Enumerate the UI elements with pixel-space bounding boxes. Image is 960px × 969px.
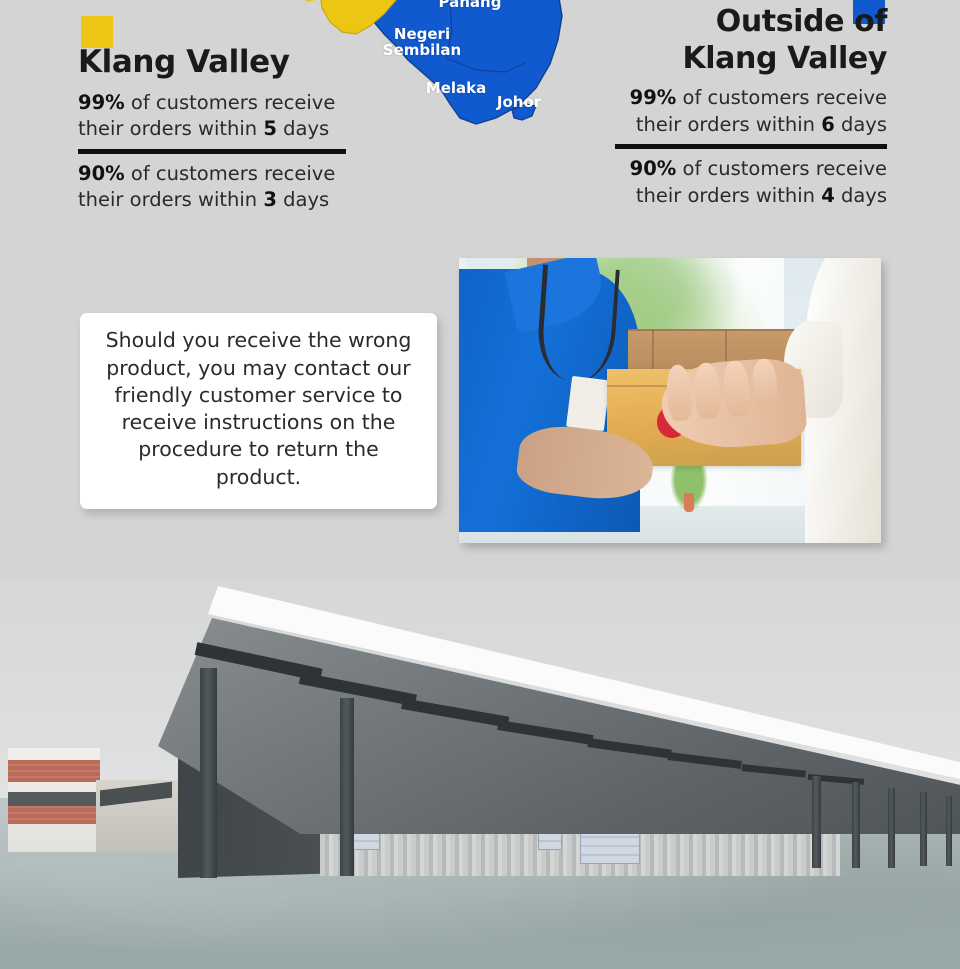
stat-percent: 90%: [78, 162, 125, 185]
finger: [664, 364, 692, 422]
finger: [693, 362, 721, 420]
brick-band: [8, 760, 100, 782]
support-column: [946, 796, 952, 866]
stat-days: 4: [821, 184, 835, 207]
support-column: [888, 788, 895, 868]
potted-plant: [670, 466, 708, 512]
stat-text-after: days: [277, 188, 329, 211]
stat-percent: 99%: [78, 91, 125, 114]
support-column: [340, 698, 354, 876]
support-column: [920, 792, 927, 866]
delivery-times-band: Klang Valley 99% of customers receive th…: [0, 0, 960, 240]
stat-divider: [615, 144, 887, 149]
region-title-outside-klang-valley: Outside of Klang Valley: [585, 4, 887, 77]
finger: [722, 360, 750, 418]
stat-90-klang-valley: 90% of customers receive their orders wi…: [78, 161, 378, 214]
office-building: [8, 748, 100, 852]
stat-text-after: days: [835, 113, 887, 136]
stat-days: 3: [263, 188, 277, 211]
brick-band: [8, 806, 100, 824]
stat-days: 5: [263, 117, 277, 140]
support-column: [812, 776, 821, 868]
return-policy-text: Should you receive the wrong product, yo…: [102, 327, 415, 491]
peninsular-malaysia-map: Pahang Negeri Sembilan Melaka Johor: [300, 0, 600, 167]
warehouse-render: [0, 580, 960, 969]
stat-percent: 90%: [630, 157, 677, 180]
region-outside-klang-valley: Outside of Klang Valley 99% of customers…: [585, 4, 887, 209]
support-column: [852, 782, 860, 868]
stat-99-outside: 99% of customers receive their orders wi…: [585, 85, 887, 138]
stat-90-outside: 90% of customers receive their orders wi…: [585, 156, 887, 209]
finger: [750, 358, 778, 407]
return-policy-card: Should you receive the wrong product, yo…: [80, 313, 437, 509]
window-band: [8, 792, 100, 806]
support-column: [200, 668, 217, 878]
stat-days: 6: [821, 113, 835, 136]
delivery-handover-photo: [459, 258, 881, 543]
id-badge: [566, 376, 610, 432]
stat-percent: 99%: [630, 86, 677, 109]
stat-text-after: days: [835, 184, 887, 207]
